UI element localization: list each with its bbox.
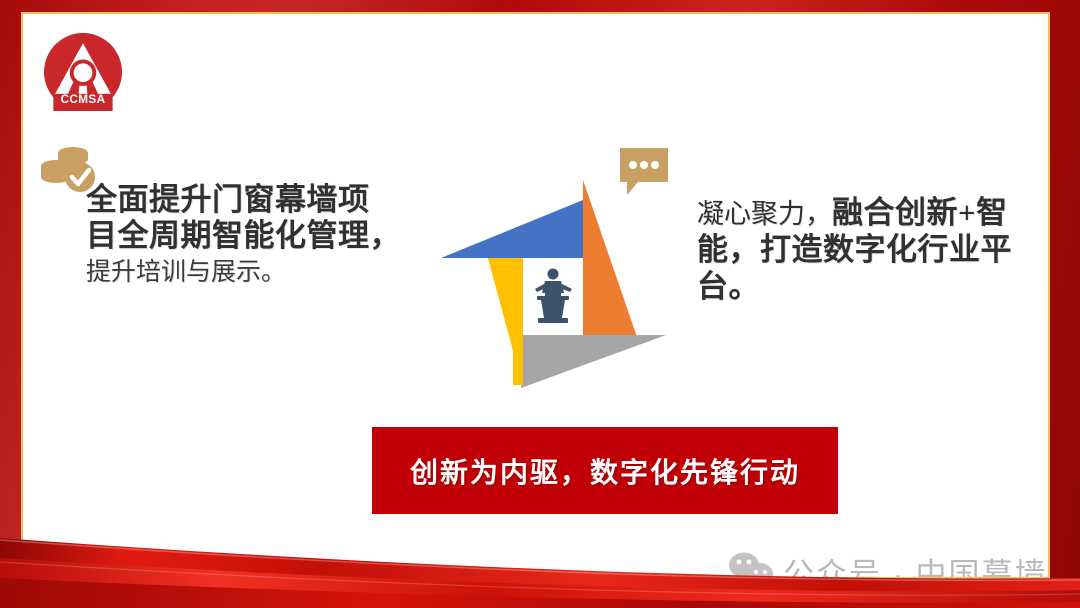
slogan-banner-text: 创新为内驱，数字化先锋行动 (410, 451, 800, 491)
right-text-light: 凝心聚力， (697, 199, 832, 229)
pinwheel-graphic (441, 172, 666, 392)
left-text-line3: 提升培训与展示。 (86, 258, 451, 287)
chat-bubble-icon (618, 146, 670, 200)
slogan-banner: 创新为内驱，数字化先锋行动 (372, 427, 838, 514)
pinwheel-orange-wing (583, 180, 637, 337)
ccmsa-logo: CCMSA (44, 33, 122, 111)
pinwheel-gray-wing (521, 335, 666, 388)
logo-caption: CCMSA (61, 93, 106, 106)
slide-root: CCMSA 全面提升门窗幕墙项 (0, 0, 1080, 608)
left-text-line2: 目全周期智能化管理， (86, 218, 451, 254)
bottom-ribbon (0, 516, 1080, 608)
pinwheel-blue-wing (441, 200, 583, 258)
slide-content-card: CCMSA 全面提升门窗幕墙项 (23, 14, 1048, 577)
right-text-block: 凝心聚力，融合创新+智能，打造数字化行业平台。 (697, 194, 1042, 306)
left-text-line1: 全面提升门窗幕墙项 (86, 182, 451, 218)
left-text-block: 全面提升门窗幕墙项 目全周期智能化管理， 提升培训与展示。 (86, 182, 451, 287)
